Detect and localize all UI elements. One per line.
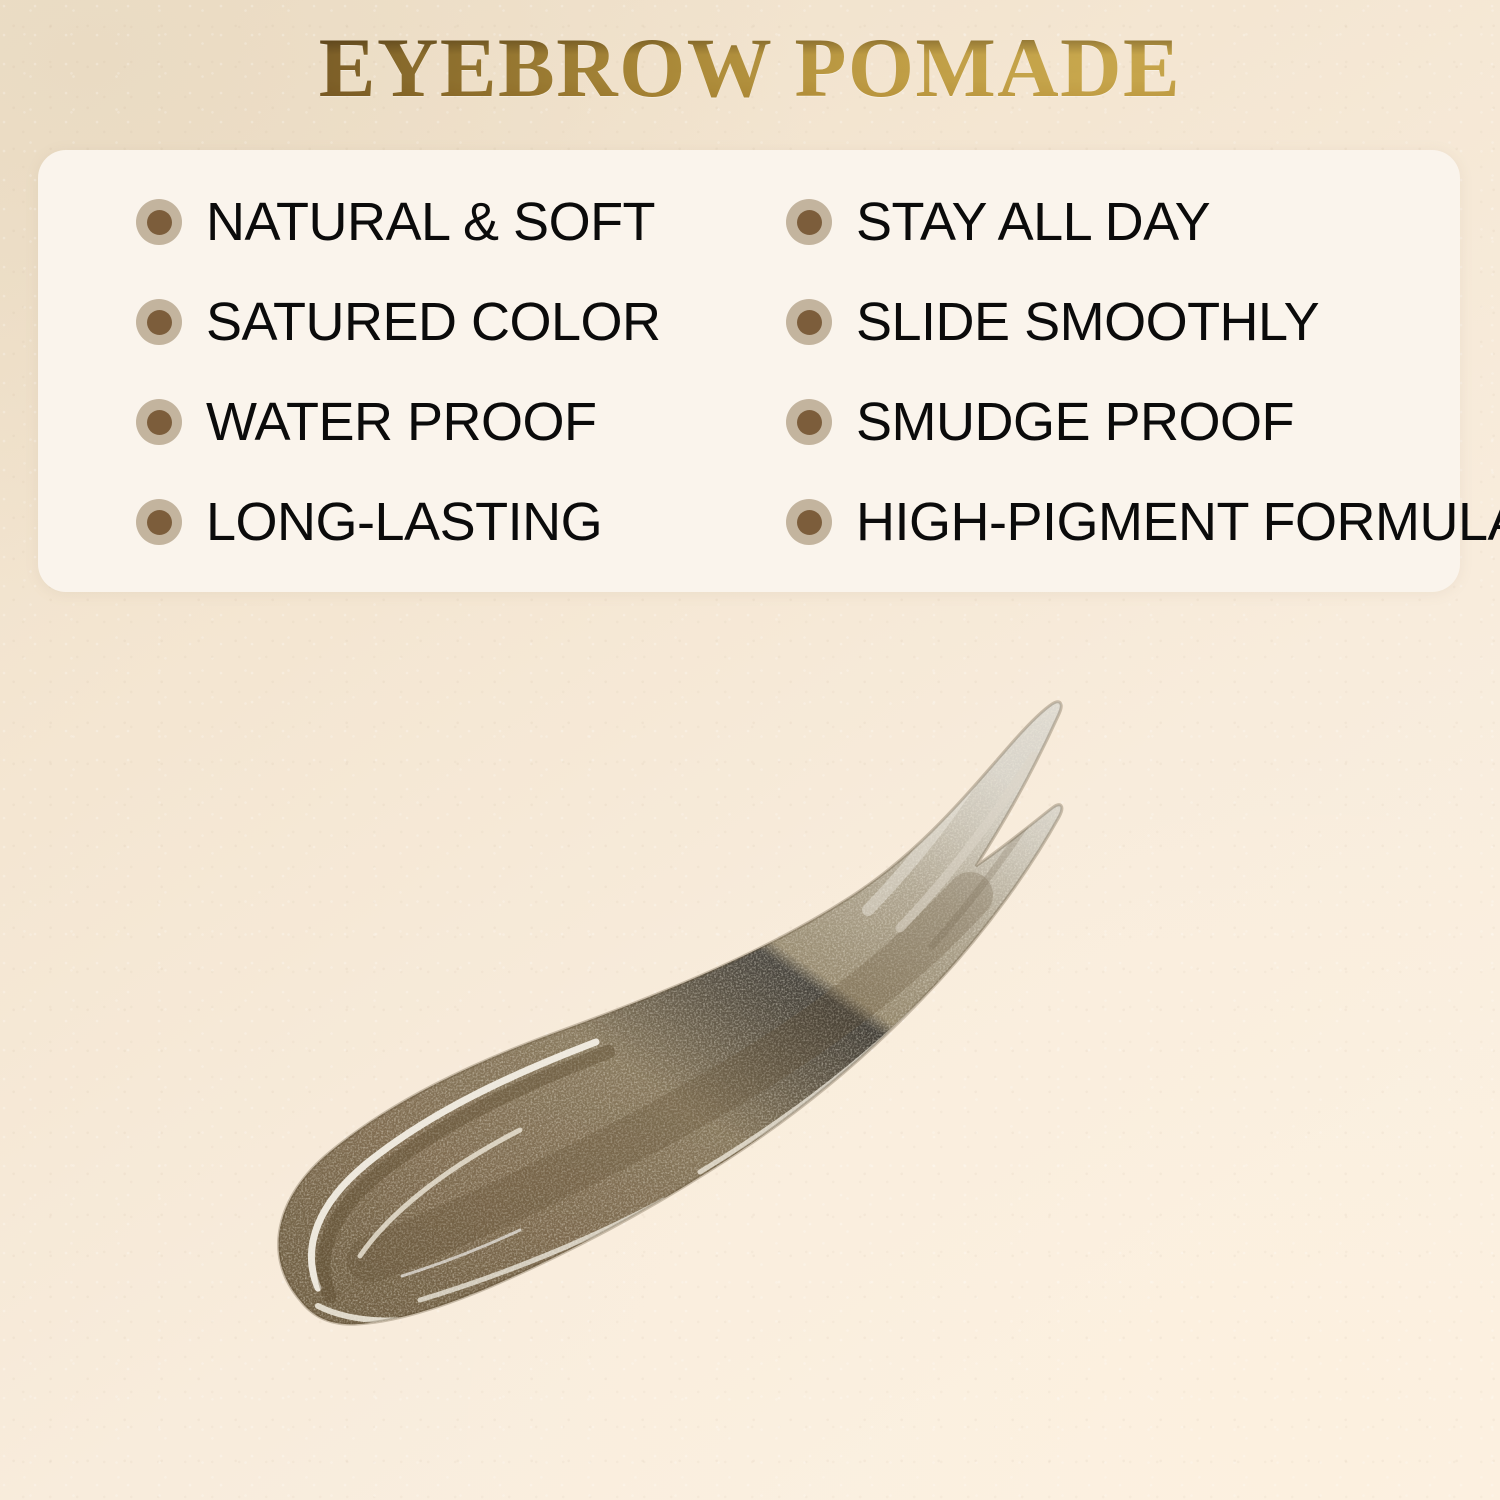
product-swatch-area [0, 600, 1500, 1500]
feature-label: SATURED COLOR [206, 295, 661, 349]
features-grid: NATURAL & SOFT STAY ALL DAY SATURED COLO… [38, 150, 1460, 592]
feature-label: HIGH-PIGMENT FORMULA [856, 495, 1500, 549]
bullet-dot-icon [136, 199, 182, 245]
bullet-dot-icon [786, 499, 832, 545]
page-title: EYEBROW POMADE [0, 26, 1500, 111]
feature-label: SMUDGE PROOF [856, 395, 1294, 449]
feature-item-natural-and-soft: NATURAL & SOFT [38, 172, 728, 272]
bullet-dot-icon [136, 499, 182, 545]
feature-item-stay-all-day: STAY ALL DAY [728, 172, 1500, 272]
feature-item-long-lasting: LONG-LASTING [38, 472, 728, 572]
pomade-cream-swatch [0, 600, 1500, 1500]
bullet-dot-icon [786, 299, 832, 345]
feature-label: SLIDE SMOOTHLY [856, 295, 1319, 349]
bullet-dot-icon [786, 199, 832, 245]
feature-item-smudge-proof: SMUDGE PROOF [728, 372, 1500, 472]
feature-item-satured-color: SATURED COLOR [38, 272, 728, 372]
features-panel: NATURAL & SOFT STAY ALL DAY SATURED COLO… [38, 150, 1460, 592]
feature-label: STAY ALL DAY [856, 195, 1210, 249]
bullet-dot-icon [136, 399, 182, 445]
feature-label: WATER PROOF [206, 395, 596, 449]
feature-label: NATURAL & SOFT [206, 195, 655, 249]
bullet-dot-icon [136, 299, 182, 345]
product-banner: EYEBROW POMADE NATURAL & SOFT STAY ALL D… [0, 0, 1500, 1500]
feature-item-high-pigment-formula: HIGH-PIGMENT FORMULA [728, 472, 1500, 572]
bullet-dot-icon [786, 399, 832, 445]
feature-label: LONG-LASTING [206, 495, 602, 549]
feature-item-water-proof: WATER PROOF [38, 372, 728, 472]
feature-item-slide-smoothly: SLIDE SMOOTHLY [728, 272, 1500, 372]
